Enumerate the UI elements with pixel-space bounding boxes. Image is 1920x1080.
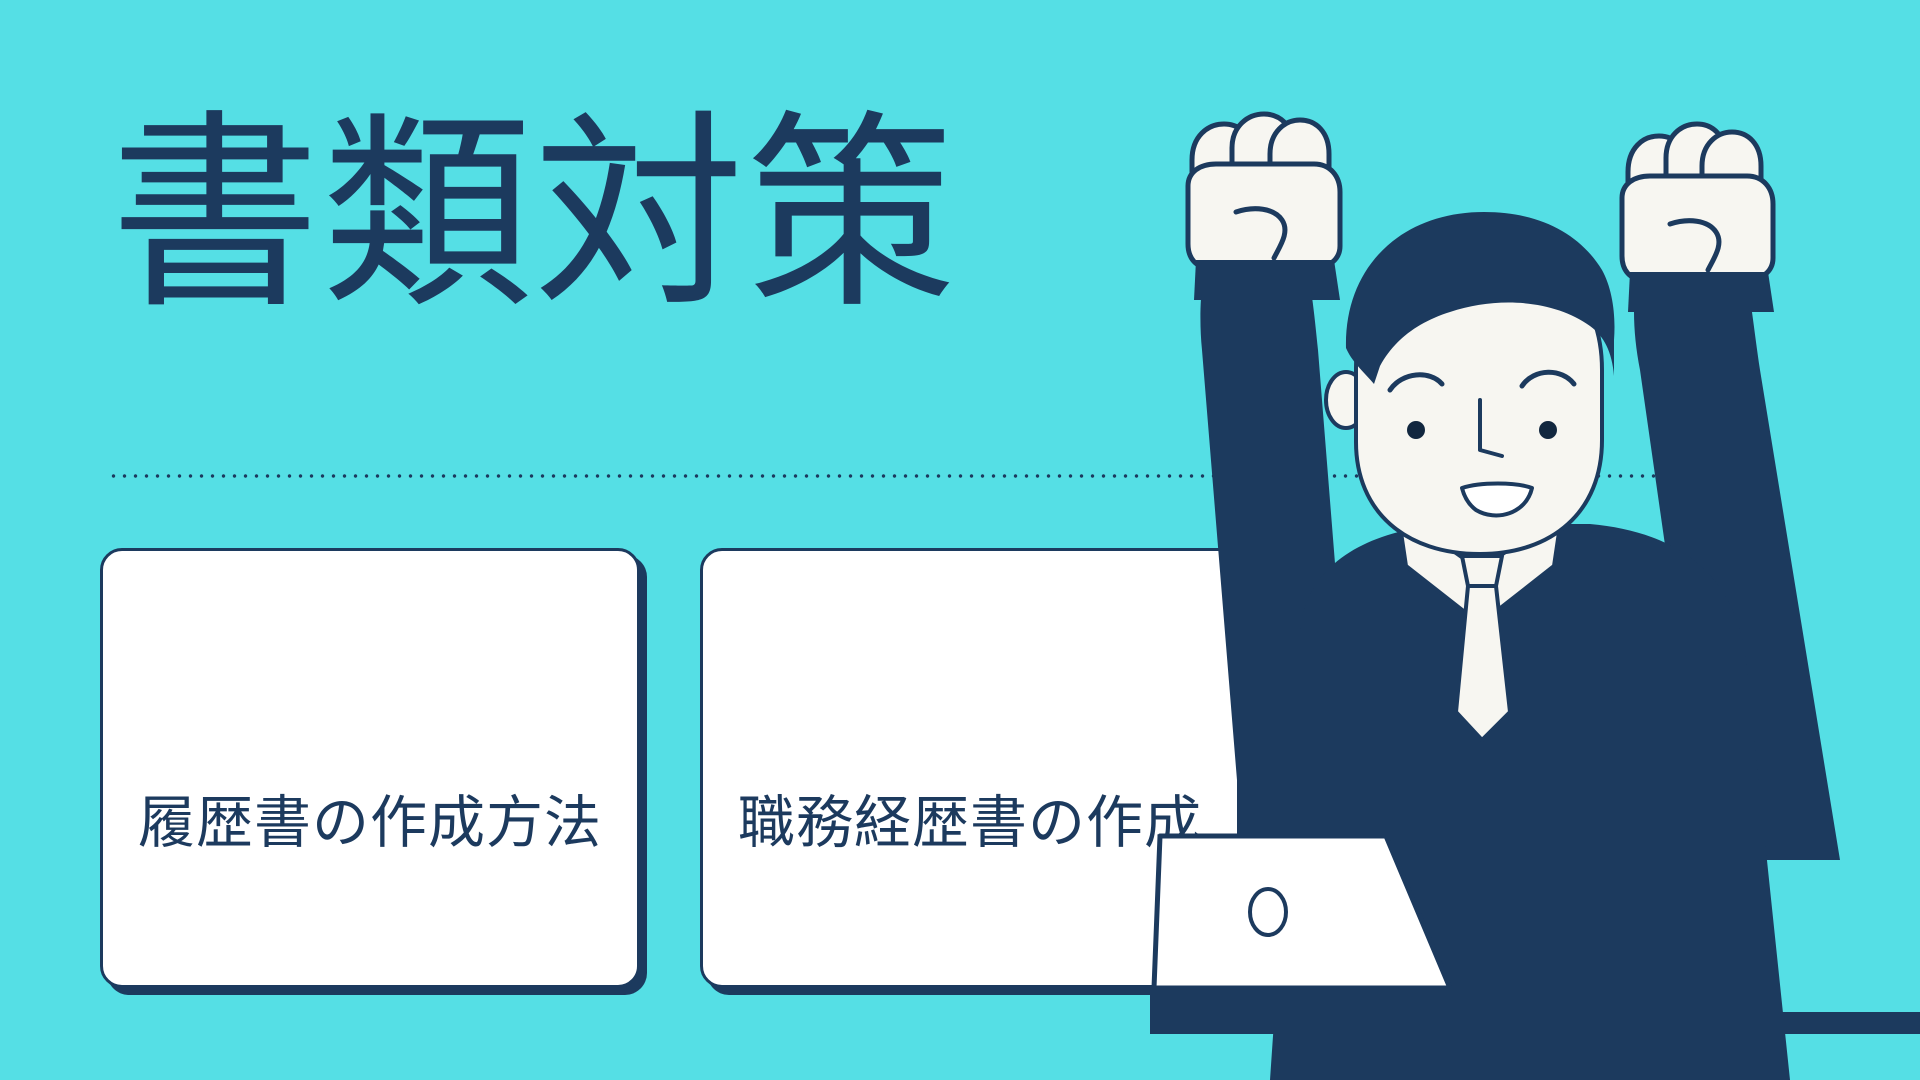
head: [1326, 212, 1615, 554]
celebrating-businessman-illustration: [1150, 100, 1920, 1080]
card-resume-creation-method[interactable]: 履歴書の作成方法: [100, 548, 640, 988]
desk: [1150, 1012, 1920, 1034]
card-label: 履歴書の作成方法: [138, 789, 602, 857]
right-fist-icon: [1622, 124, 1774, 312]
page-title: 書類対策: [110, 110, 958, 320]
slide-canvas: 書類対策 履歴書の作成方法 職務経歴書の作成: [0, 0, 1920, 1080]
card-label: 職務経歴書の作成: [738, 789, 1202, 857]
left-fist-icon: [1188, 114, 1340, 300]
